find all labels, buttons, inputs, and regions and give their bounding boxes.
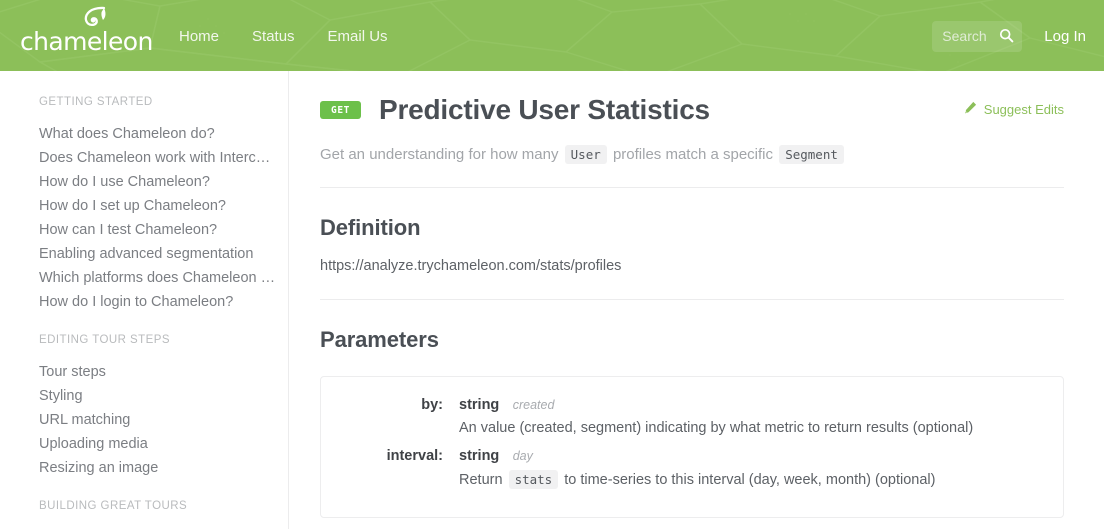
http-method-badge: GET xyxy=(320,101,361,120)
parameter-description-text: An value (created, segment) indicating b… xyxy=(459,420,973,436)
sidebar-item-does-chameleon-work-with-intercom[interactable]: Does Chameleon work with Intercom? xyxy=(39,146,277,170)
search-box[interactable] xyxy=(932,21,1022,52)
suggest-edits-link[interactable]: Suggest Edits xyxy=(964,101,1064,117)
sidebar-group-getting-started: GETTING STARTED What does Chameleon do? … xyxy=(39,96,288,314)
sidebar-item-which-platforms-does-chameleon-support[interactable]: Which platforms does Chameleon suppo... xyxy=(39,266,277,290)
main-navigation: Home Status Email Us xyxy=(179,28,388,45)
sidebar-group-editing-tour-steps: EDITING TOUR STEPS Tour steps Styling UR… xyxy=(39,334,288,480)
logo-wordmark: chameleon xyxy=(20,28,153,56)
parameter-name: interval: xyxy=(343,445,459,467)
sidebar-item-how-do-i-login-to-chameleon[interactable]: How do I login to Chameleon? xyxy=(39,290,277,314)
parameter-description: An value (created, segment) indicating b… xyxy=(459,417,1041,440)
sidebar-item-how-can-i-test-chameleon[interactable]: How can I test Chameleon? xyxy=(39,218,277,242)
sidebar: GETTING STARTED What does Chameleon do? … xyxy=(0,71,289,529)
parameter-description: Return stats to time-series to this inte… xyxy=(459,468,1041,492)
parameter-type: string xyxy=(459,448,499,464)
sidebar-item-enabling-advanced-segmentation[interactable]: Enabling advanced segmentation xyxy=(39,242,277,266)
nav-item-home[interactable]: Home xyxy=(179,28,219,45)
subtitle-text-part2: profiles match a specific xyxy=(613,146,773,163)
parameter-example: created xyxy=(513,398,555,412)
sidebar-item-styling[interactable]: Styling xyxy=(39,384,277,408)
parameter-body: string created An value (created, segmen… xyxy=(459,394,1041,440)
sidebar-item-how-do-i-set-up-chameleon[interactable]: How do I set up Chameleon? xyxy=(39,194,277,218)
sidebar-item-what-does-chameleon-do[interactable]: What does Chameleon do? xyxy=(39,122,277,146)
parameter-row-interval: interval: string day Return stats to tim… xyxy=(343,445,1041,492)
definition-url: https://analyze.trychameleon.com/stats/p… xyxy=(320,256,1064,276)
search-input[interactable] xyxy=(942,28,1000,44)
section-title-definition: Definition xyxy=(320,215,1064,241)
page-body: GETTING STARTED What does Chameleon do? … xyxy=(0,71,1104,529)
sidebar-item-how-do-i-use-chameleon[interactable]: How do I use Chameleon? xyxy=(39,170,277,194)
subtitle-text-part1: Get an understanding for how many xyxy=(320,146,558,163)
sidebar-item-resizing-an-image[interactable]: Resizing an image xyxy=(39,456,277,480)
parameter-type: string xyxy=(459,397,499,413)
subtitle-code-user: User xyxy=(565,145,607,164)
login-link[interactable]: Log In xyxy=(1044,28,1086,45)
nav-item-email-us[interactable]: Email Us xyxy=(328,28,388,45)
parameter-description-code: stats xyxy=(509,470,559,489)
site-header: chameleon Home Status Email Us Log In xyxy=(0,0,1104,71)
parameters-box: by: string created An value (created, se… xyxy=(320,376,1064,518)
sidebar-item-tour-steps[interactable]: Tour steps xyxy=(39,360,277,384)
subtitle-code-segment: Segment xyxy=(779,145,844,164)
parameter-description-text-pre: Return xyxy=(459,472,503,488)
sidebar-heading: BUILDING GREAT TOURS xyxy=(39,500,288,512)
pencil-icon xyxy=(964,101,977,117)
page-subtitle: Get an understanding for how many User p… xyxy=(320,144,1064,166)
header-right-group: Log In xyxy=(932,21,1086,52)
parameter-description-text-post: to time-series to this interval (day, we… xyxy=(564,472,935,488)
sidebar-heading: GETTING STARTED xyxy=(39,96,288,108)
sidebar-group-building-great-tours: BUILDING GREAT TOURS xyxy=(39,500,288,512)
search-icon[interactable] xyxy=(999,28,1014,48)
section-title-parameters: Parameters xyxy=(320,327,1064,353)
parameter-row-by: by: string created An value (created, se… xyxy=(343,394,1041,440)
page-title: Predictive User Statistics xyxy=(379,93,710,127)
sidebar-item-uploading-media[interactable]: Uploading media xyxy=(39,432,277,456)
main-content: GET Predictive User Statistics Suggest E… xyxy=(289,71,1104,529)
divider-after-subtitle xyxy=(320,187,1064,188)
sidebar-item-url-matching[interactable]: URL matching xyxy=(39,408,277,432)
nav-item-status[interactable]: Status xyxy=(252,28,295,45)
title-row: GET Predictive User Statistics Suggest E… xyxy=(320,93,1064,127)
parameter-body: string day Return stats to time-series t… xyxy=(459,445,1041,492)
parameter-example: day xyxy=(513,449,533,463)
site-logo[interactable]: chameleon xyxy=(20,6,132,64)
sidebar-heading: EDITING TOUR STEPS xyxy=(39,334,288,346)
parameter-name: by: xyxy=(343,394,459,416)
divider-after-definition xyxy=(320,299,1064,300)
suggest-edits-label: Suggest Edits xyxy=(984,102,1064,117)
